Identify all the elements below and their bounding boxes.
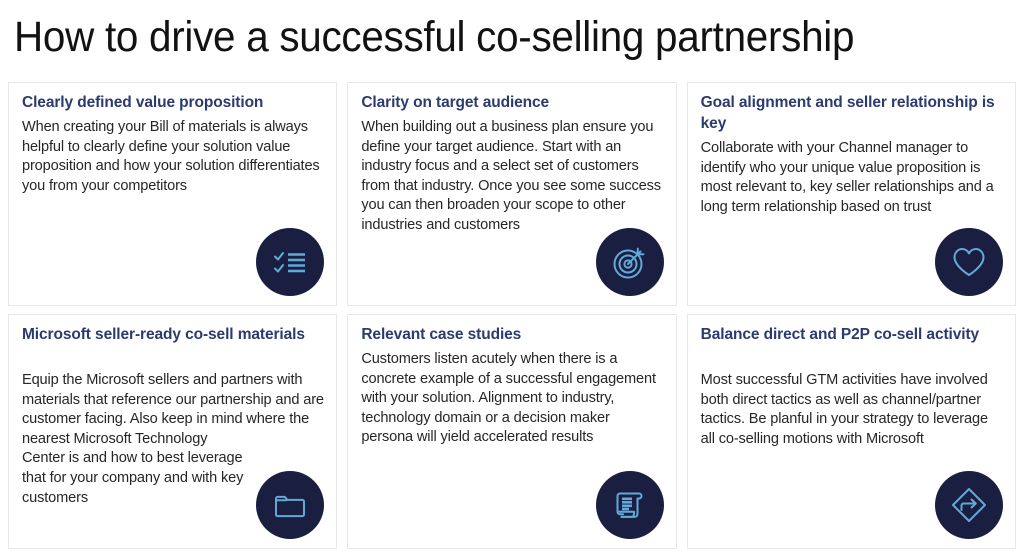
card-microsoft-seller-ready-co-sell-materials: Microsoft seller-ready co-sell materials… xyxy=(8,314,337,549)
card-grid: Clearly defined value proposition When c… xyxy=(8,82,1016,549)
scroll-icon xyxy=(612,487,648,523)
card-title: Microsoft seller-ready co-sell materials xyxy=(22,324,324,345)
card-body: Collaborate with your Channel manager to… xyxy=(701,139,1003,217)
icon-badge xyxy=(256,228,324,296)
diamond-arrow-icon xyxy=(950,486,988,524)
target-icon xyxy=(612,244,648,280)
card-title: Clearly defined value proposition xyxy=(22,92,324,113)
page-title: How to drive a successful co-selling par… xyxy=(14,6,945,68)
card-title: Relevant case studies xyxy=(361,324,663,345)
checklist-icon xyxy=(272,244,308,280)
card-body: When building out a business plan ensure… xyxy=(361,118,663,236)
card-body: When creating your Bill of materials is … xyxy=(22,118,324,196)
card-clearly-defined-value-proposition: Clearly defined value proposition When c… xyxy=(8,82,337,306)
heart-icon xyxy=(951,244,987,280)
card-body: Most successful GTM activities have invo… xyxy=(701,371,1003,449)
card-title: Goal alignment and seller relationship i… xyxy=(701,92,1003,134)
folder-icon xyxy=(272,487,308,523)
card-title: Balance direct and P2P co-sell activity xyxy=(701,324,1003,345)
icon-badge xyxy=(256,471,324,539)
icon-badge xyxy=(596,228,664,296)
card-title: Clarity on target audience xyxy=(361,92,663,113)
icon-badge xyxy=(596,471,664,539)
slide: How to drive a successful co-selling par… xyxy=(0,0,1024,557)
card-goal-alignment-and-seller-relationship: Goal alignment and seller relationship i… xyxy=(687,82,1016,306)
card-clarity-on-target-audience: Clarity on target audience When building… xyxy=(347,82,676,306)
card-body: Customers listen acutely when there is a… xyxy=(361,350,663,448)
card-balance-direct-and-p2p-co-sell-activity: Balance direct and P2P co-sell activity … xyxy=(687,314,1016,549)
card-relevant-case-studies: Relevant case studies Customers listen a… xyxy=(347,314,676,549)
icon-badge xyxy=(935,471,1003,539)
icon-badge xyxy=(935,228,1003,296)
